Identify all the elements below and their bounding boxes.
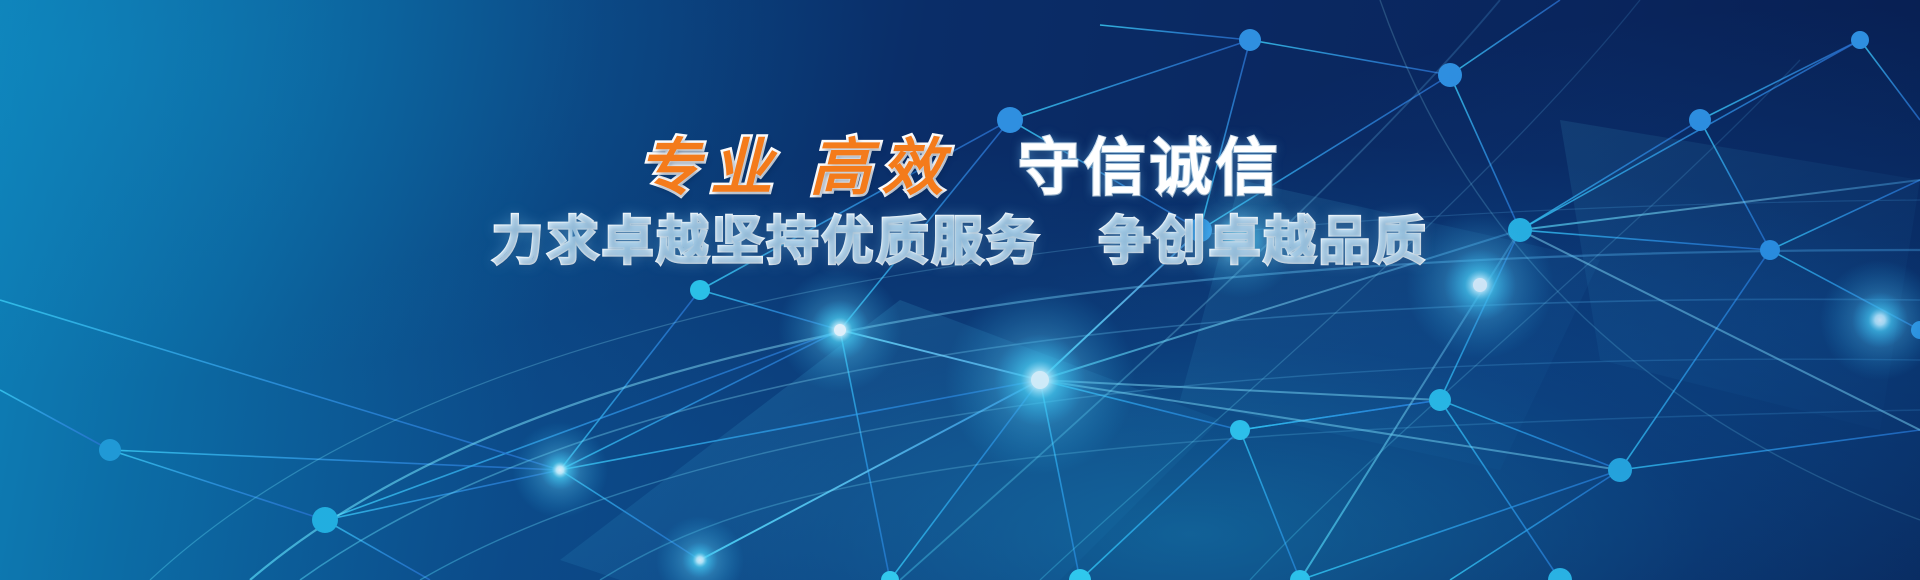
hero-banner: 专业 高效 守信诚信 力求卓越坚持优质服务 争创卓越品质	[0, 0, 1920, 580]
background-glow-vignette	[0, 0, 1920, 580]
